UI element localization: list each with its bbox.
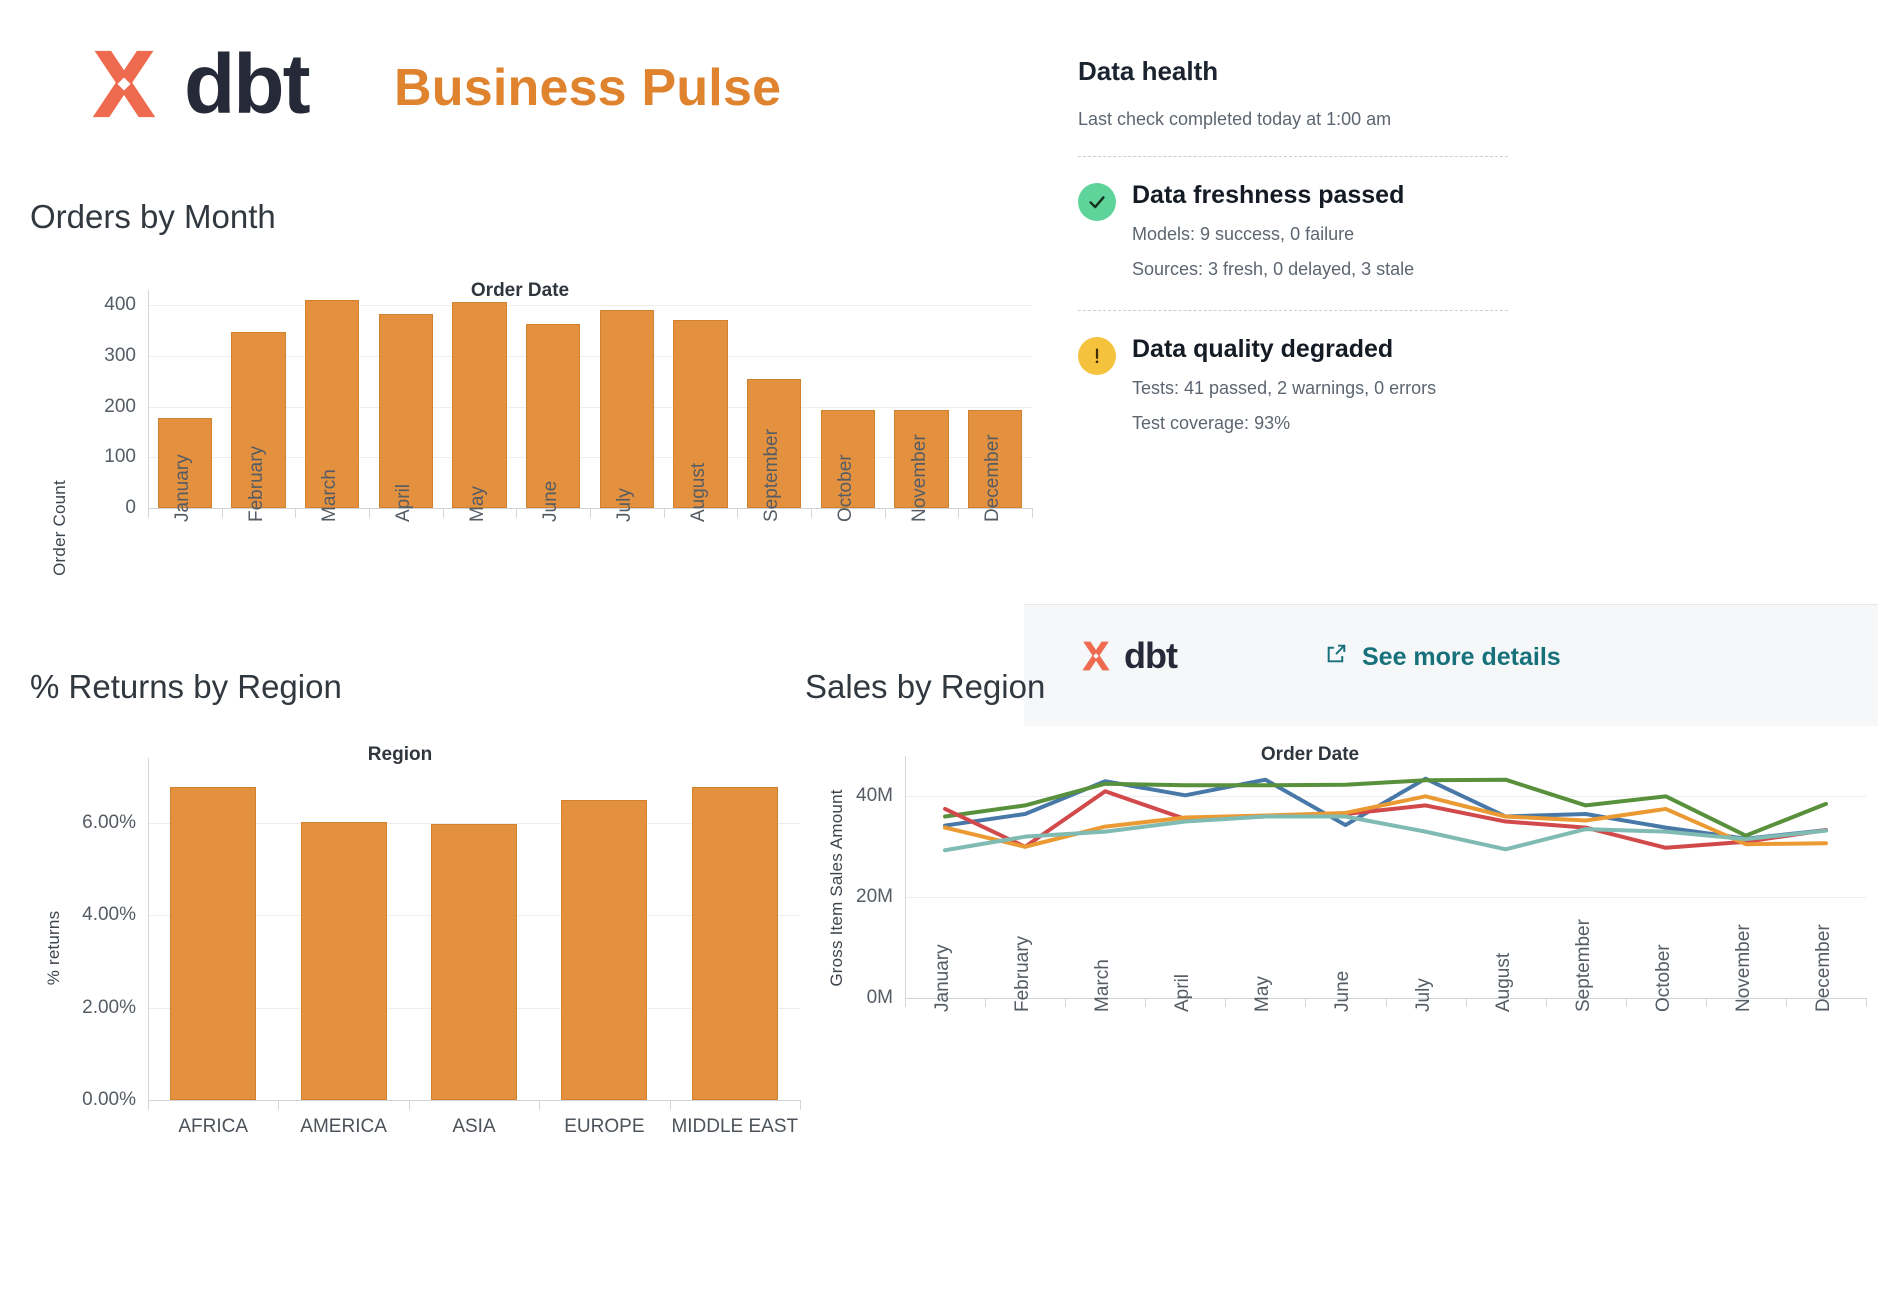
x-axis-tickmark: [1546, 998, 1547, 1007]
x-axis-tick-label: AFRICA: [148, 1116, 278, 1138]
x-axis-tickmark: [409, 1100, 410, 1110]
x-axis-tick-label: December: [1813, 924, 1835, 1012]
x-axis-tick-label: MIDDLE EAST: [670, 1116, 800, 1138]
x-axis-tick-label: December: [982, 434, 1004, 522]
returns-chart-heading: % Returns by Region: [30, 668, 810, 706]
y-axis-tick-label: 400: [30, 294, 136, 316]
x-axis-tickmark: [1305, 998, 1306, 1007]
x-axis-tickmark: [148, 508, 149, 518]
x-axis-tick-label: January: [932, 944, 954, 1012]
data-health-title: Data health: [1078, 56, 1878, 87]
bar: [561, 800, 647, 1100]
x-axis-tick-label: August: [688, 463, 710, 522]
x-axis-tick-label: October: [1653, 944, 1675, 1012]
health-item-title: Data freshness passed: [1132, 181, 1878, 210]
x-axis-tick-label: March: [1092, 959, 1114, 1012]
x-axis-tickmark: [539, 1100, 540, 1110]
data-health-panel: Data health Last check completed today a…: [1078, 56, 1878, 434]
y-axis-tick-label: 0: [30, 497, 136, 519]
x-axis-tick-label: November: [1733, 924, 1755, 1012]
x-axis-tick-label: February: [246, 446, 268, 522]
series-line-america: [945, 780, 1826, 836]
y-axis-tick-label: 6.00%: [20, 812, 136, 834]
page-title: Business Pulse: [394, 58, 781, 118]
y-axis-tick-label: 2.00%: [20, 997, 136, 1019]
health-item-quality: Data quality degraded Tests: 41 passed, …: [1078, 335, 1878, 434]
x-axis-tick-label: November: [909, 434, 931, 522]
x-axis-tickmark: [1032, 508, 1033, 518]
y-axis-tick-label: 0.00%: [20, 1089, 136, 1111]
x-axis-tickmark: [295, 508, 296, 518]
bar: [301, 822, 387, 1100]
y-axis-line: [148, 758, 149, 1100]
x-axis-tickmark: [278, 1100, 279, 1110]
x-axis-tickmark: [1225, 998, 1226, 1007]
x-axis-line: [148, 1100, 800, 1101]
x-axis-tick-label: May: [1252, 976, 1274, 1012]
gridline: [148, 305, 1032, 306]
x-axis-tick-label: AMERICA: [278, 1116, 408, 1138]
x-axis-tick-label: July: [614, 488, 636, 522]
x-axis-tick-label: October: [835, 454, 857, 522]
x-axis-tickmark: [1065, 998, 1066, 1007]
bar: [170, 787, 256, 1100]
series-line-europe: [945, 796, 1826, 846]
divider: [1078, 156, 1508, 157]
brand-wordmark: dbt: [184, 42, 309, 126]
health-item-detail-coverage: Test coverage: 93%: [1132, 413, 1878, 434]
x-axis-tickmark: [1626, 998, 1627, 1007]
x-axis-tickmark: [1466, 998, 1467, 1007]
y-axis-tick-label: 100: [30, 446, 136, 468]
check-circle-icon: [1078, 183, 1116, 221]
x-axis-tickmark: [958, 508, 959, 518]
orders-chart-heading: Orders by Month: [30, 198, 1040, 236]
sales-by-region-chart: Sales by Region Order Date Gross Item Sa…: [805, 668, 1878, 1308]
bar: [600, 310, 655, 508]
x-axis-tickmark: [885, 508, 886, 518]
x-axis-tickmark: [985, 998, 986, 1007]
health-item-freshness: Data freshness passed Models: 9 success,…: [1078, 181, 1878, 280]
x-axis-tickmark: [1706, 998, 1707, 1007]
x-axis-tick-label: July: [1413, 978, 1435, 1012]
orders-by-month-chart: Orders by Month Order Date Order Count 0…: [30, 198, 1040, 648]
x-axis-tickmark: [1386, 998, 1387, 1007]
x-axis-tickmark: [664, 508, 665, 518]
data-health-subtitle: Last check completed today at 1:00 am: [1078, 109, 1878, 130]
y-axis-tick-label: 300: [30, 345, 136, 367]
bar: [692, 787, 778, 1100]
x-axis-tickmark: [1145, 998, 1146, 1007]
x-axis-tickmark: [800, 1100, 801, 1110]
x-axis-tick-label: January: [172, 454, 194, 522]
x-axis-tick-label: May: [467, 486, 489, 522]
warning-circle-icon: [1078, 337, 1116, 375]
x-axis-tick-label: September: [1573, 919, 1595, 1012]
bar: [431, 824, 517, 1100]
x-axis-tick-label: April: [1172, 974, 1194, 1012]
x-axis-tickmark: [811, 508, 812, 518]
x-axis-tickmark: [369, 508, 370, 518]
bar: [452, 302, 507, 508]
health-item-detail-models: Models: 9 success, 0 failure: [1132, 224, 1878, 245]
x-axis-tick-label: April: [393, 484, 415, 522]
x-axis-tickmark: [670, 1100, 671, 1110]
health-item-detail-tests: Tests: 41 passed, 2 warnings, 0 errors: [1132, 378, 1878, 399]
x-axis-tick-label: ASIA: [409, 1116, 539, 1138]
returns-by-region-chart: % Returns by Region Region % returns 0.0…: [20, 668, 810, 1308]
x-axis-tickmark: [516, 508, 517, 518]
x-axis-tick-label: August: [1493, 953, 1515, 1012]
x-axis-tickmark: [737, 508, 738, 518]
x-axis-tickmark: [1786, 998, 1787, 1007]
x-axis-tick-label: March: [319, 469, 341, 522]
x-axis-tickmark: [1866, 998, 1867, 1007]
x-axis-tick-label: June: [540, 481, 562, 522]
bar: [379, 314, 434, 508]
y-axis-tick-label: 4.00%: [20, 904, 136, 926]
sales-chart-heading: Sales by Region: [805, 668, 1878, 706]
x-axis-tickmark: [222, 508, 223, 518]
sales-lines: [805, 746, 1878, 1146]
y-axis-line: [148, 290, 149, 508]
x-axis-tickmark: [443, 508, 444, 518]
x-axis-tick-label: EUROPE: [539, 1116, 669, 1138]
x-axis-tickmark: [590, 508, 591, 518]
health-item-title: Data quality degraded: [1132, 335, 1878, 364]
y-axis-tick-label: 200: [30, 396, 136, 418]
brand-logo: dbt: [78, 36, 378, 132]
x-axis-tickmark: [905, 998, 906, 1007]
x-axis-tick-label: September: [761, 429, 783, 522]
dbt-x-logo-icon: [78, 38, 170, 130]
x-axis-tick-label: June: [1332, 971, 1354, 1012]
x-axis-tickmark: [148, 1100, 149, 1110]
divider: [1078, 310, 1508, 311]
x-axis-tick-label: February: [1012, 936, 1034, 1012]
health-item-detail-sources: Sources: 3 fresh, 0 delayed, 3 stale: [1132, 259, 1878, 280]
